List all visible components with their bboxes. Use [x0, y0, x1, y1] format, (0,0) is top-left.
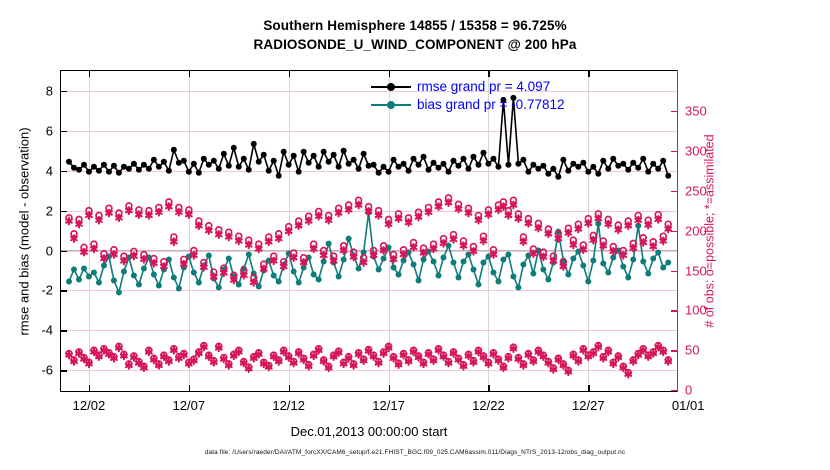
x-tick-label: 12/17: [372, 398, 405, 413]
y-axis-left-title: rmse and bias (model - observation): [14, 70, 34, 392]
plot-area: 86420-2-4-635030025020015010050012/0212/…: [60, 70, 678, 392]
observation-diagnostics-plot: Southern Hemisphere 14855 / 15358 = 96.7…: [0, 0, 830, 470]
y-tick-label-right: 350: [685, 103, 707, 118]
y-tick-label-right: 150: [685, 263, 707, 278]
y-tick-label-right: 0: [685, 383, 692, 398]
legend-marker-icon: [369, 98, 413, 112]
x-tick-label: 12/07: [173, 398, 206, 413]
x-tick-label: 01/01: [672, 398, 705, 413]
series-markers: [66, 199, 671, 285]
y-axis-left-title-text: rmse and bias (model - observation): [17, 127, 32, 335]
y-tick-label-left: 4: [46, 163, 53, 178]
series-markers: [66, 344, 671, 378]
series-overlay: [61, 71, 676, 390]
y-tick-label-left: -2: [41, 283, 53, 298]
x-tick-label: 12/22: [472, 398, 505, 413]
y-tick-label-right: 300: [685, 143, 707, 158]
right-axis-spine: [677, 70, 678, 393]
x-axis-title: Dec.01,2013 00:00:00 start: [60, 424, 678, 439]
y-tick-label-left: 6: [46, 123, 53, 138]
legend-item-0[interactable]: rmse grand pr = 4.097: [369, 79, 564, 94]
chart-legend: rmse grand pr = 4.097bias grand pr = -0.…: [366, 78, 567, 113]
title-line-2: RADIOSONDE_U_WIND_COMPONENT @ 200 hPa: [0, 37, 830, 52]
y-tick-label-left: 0: [46, 243, 53, 258]
legend-item-label: rmse grand pr = 4.097: [417, 79, 550, 94]
title-line-1: Southern Hemisphere 14855 / 15358 = 96.7…: [0, 18, 830, 33]
plot-canvas: [61, 71, 677, 391]
x-tick-label: 12/27: [572, 398, 605, 413]
legend-marker-icon: [369, 80, 413, 94]
y-tick-label-right: 100: [685, 303, 707, 318]
y-tick-label-right: 200: [685, 223, 707, 238]
x-tick-label: 12/02: [73, 398, 106, 413]
data-file-footer: data file: /Users/raeder/DAI/ATM_forcXX/…: [0, 449, 830, 456]
page-title: Southern Hemisphere 14855 / 15358 = 96.7…: [0, 18, 830, 52]
y-tick-label-right: 250: [685, 183, 707, 198]
legend-item-1[interactable]: bias grand pr = -0.77812: [369, 97, 564, 112]
y-tick-label-right: 50: [685, 343, 699, 358]
y-tick-label-left: -6: [41, 363, 53, 378]
y-tick-label-left: -4: [41, 323, 53, 338]
x-tick-label: 12/12: [272, 398, 305, 413]
y-tick-right: [671, 390, 677, 391]
y-tick-label-left: 8: [46, 83, 53, 98]
legend-item-label: bias grand pr = -0.77812: [417, 97, 564, 112]
y-tick-label-left: 2: [46, 203, 53, 218]
